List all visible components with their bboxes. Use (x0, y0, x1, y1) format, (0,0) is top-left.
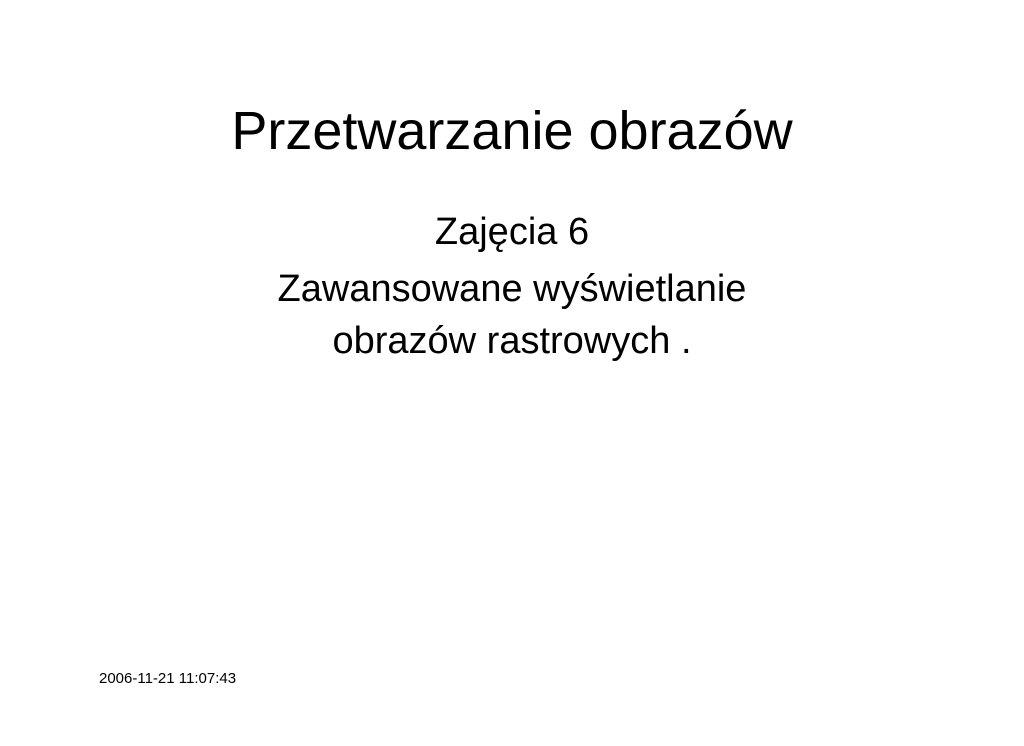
presentation-slide: Przetwarzanie obrazów Zajęcia 6 Zawansow… (0, 0, 1024, 746)
subtitle-line-topic-part1: Zawansowane wyświetlanie (212, 263, 812, 315)
title-block: Przetwarzanie obrazów (0, 99, 1024, 163)
page-title: Przetwarzanie obrazów (0, 99, 1024, 163)
subtitle-line-lesson: Zajęcia 6 (212, 206, 812, 258)
subtitle-line-topic-part2: obrazów rastrowych . (212, 315, 812, 367)
subtitle-block: Zajęcia 6 Zawansowane wyświetlanie obraz… (212, 206, 812, 367)
slide-timestamp: 2006-11-21 11:07:43 (99, 670, 236, 688)
